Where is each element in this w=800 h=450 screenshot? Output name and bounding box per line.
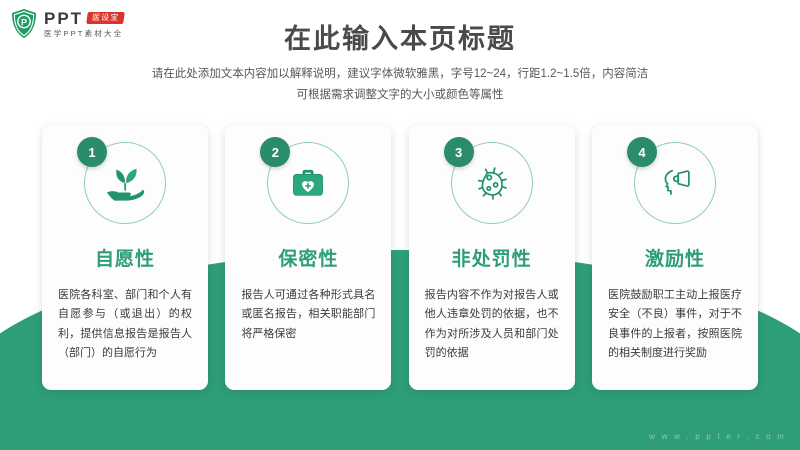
page-subtitle: 请在此处添加文本内容加以解释说明，建议字体微软雅黑，字号12~24，行距1.2~… (0, 64, 800, 107)
brand-logo[interactable]: P PPT 医设宝 医学PPT素材大全 (10, 8, 124, 39)
card-number-badge: 1 (77, 137, 107, 167)
card-body: 报告内容不作为对报告人或他人违章处罚的依据，也不作为对所涉及人员和部门处罚的依据 (425, 286, 559, 363)
shield-icon: P (10, 8, 38, 39)
page-subtitle-line-1: 请在此处添加文本内容加以解释说明，建议字体微软雅黑，字号12~24，行距1.2~… (0, 64, 800, 85)
card-icon-area: 4 (634, 142, 716, 224)
watermark: w w w . p p t e r . c o m (649, 432, 786, 441)
card-icon-area: 1 (84, 142, 166, 224)
page-subtitle-line-2: 可根据需求调整文字的大小或颜色等属性 (0, 85, 800, 106)
card-item[interactable]: 3 (409, 125, 575, 390)
card-body: 报告人可通过各种形式具名或匿名报告，相关职能部门将严格保密 (241, 286, 375, 344)
card-icon-area: 3 (451, 142, 533, 224)
svg-text:P: P (21, 18, 27, 28)
card-number-badge: 4 (627, 137, 657, 167)
card-icon-area: 2 (267, 142, 349, 224)
card-item[interactable]: 4 激励性 医院鼓励职工主动上报医疗安全（不良）事件，对于不良事件的上报者，按照… (592, 125, 758, 390)
card-title: 激励性 (645, 244, 705, 271)
card-title: 非处罚性 (452, 244, 532, 271)
brand-name: PPT (44, 10, 83, 27)
card-body: 医院各科室、部门和个人有自愿参与（或退出）的权利，提供信息报告是报告人（部门）的… (58, 286, 192, 363)
card-item[interactable]: 2 保密性 报告人可通过各种形式具名或匿名报告，相关职能部门将严格保密 (225, 125, 391, 390)
slide-canvas: P PPT 医设宝 医学PPT素材大全 在此输入本页标题 请在此处添加文本内容加… (0, 0, 800, 450)
card-title: 保密性 (278, 244, 338, 271)
brand-subtitle: 医学PPT素材大全 (44, 30, 124, 38)
card-number-badge: 3 (444, 137, 474, 167)
brand-badge: 医设宝 (86, 12, 125, 24)
card-title: 自愿性 (95, 244, 155, 271)
card-item[interactable]: 1 自愿性 医院各科室、部门和个人有自愿参与（或退出）的权利，提供信息报告是报告… (42, 125, 208, 390)
card-list: 1 自愿性 医院各科室、部门和个人有自愿参与（或退出）的权利，提供信息报告是报告… (42, 125, 758, 390)
card-body: 医院鼓励职工主动上报医疗安全（不良）事件，对于不良事件的上报者，按照医院的相关制… (608, 286, 742, 363)
